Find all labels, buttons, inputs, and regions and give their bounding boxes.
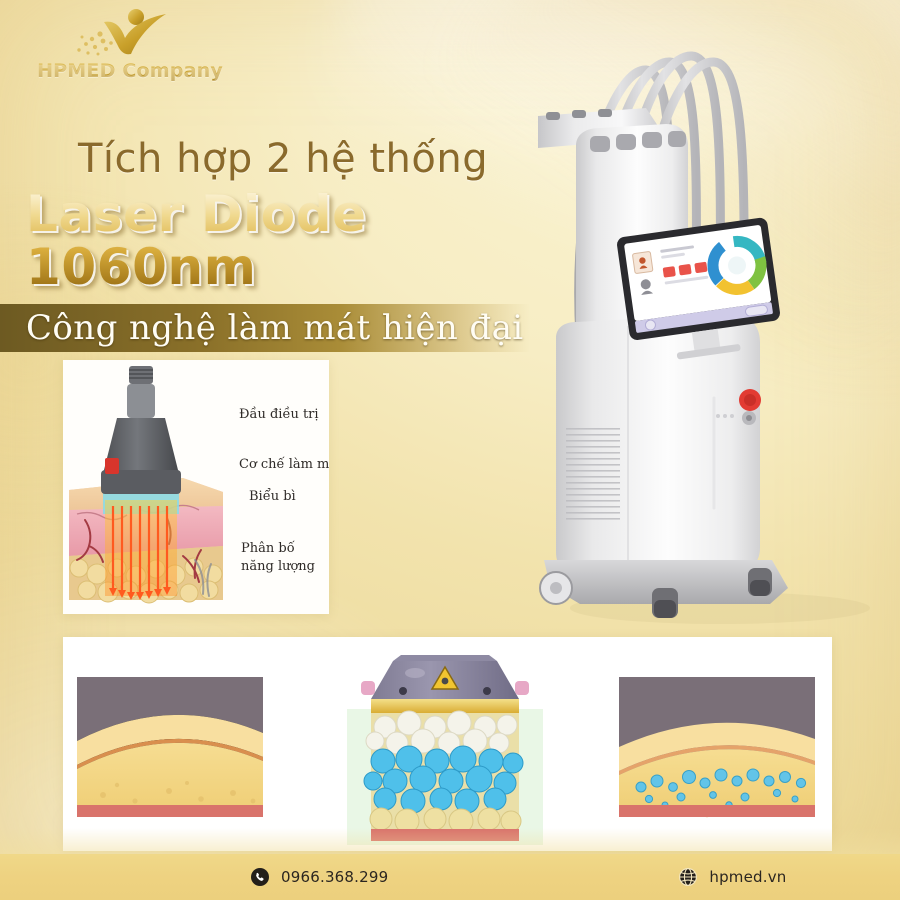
indicator-leds (716, 414, 734, 418)
headline-line-1: Tích hợp 2 hệ thống (78, 138, 560, 180)
treatment-handpiece (101, 366, 181, 494)
applicator-head (361, 655, 529, 699)
treatment-mechanism-card: Đầu điều trị Cơ chế làm mát Biểu bì Phân… (63, 360, 329, 614)
phone-icon (250, 867, 270, 887)
diagram-label-0: Đầu điều trị (239, 406, 319, 422)
diagram-label-3: Phân bốnăng lượng (241, 540, 315, 574)
globe-icon (678, 867, 698, 887)
website-url: hpmed.vn (709, 868, 786, 886)
contact-phone[interactable]: 0966.368.299 (250, 867, 388, 887)
stage-panel-after (619, 677, 815, 817)
stage-panel-before (77, 677, 263, 817)
headline-line-2: Laser Diode 1060nm (26, 188, 560, 294)
footer-fade (0, 828, 900, 854)
treatment-stages-card (63, 637, 832, 851)
poster-canvas: HPMED Company Tích hợp 2 hệ thống Laser … (0, 0, 900, 900)
laser-machine-photo (520, 8, 900, 648)
fat-cell-block (364, 711, 523, 841)
handpiece-button (105, 458, 119, 474)
diagram-label-1: Cơ chế làm mát (239, 456, 329, 472)
diagram-label-2: Biểu bì (249, 488, 296, 504)
brand-logo[interactable]: HPMED Company (22, 6, 232, 92)
stage-panel-during (347, 655, 543, 845)
brand-name: HPMED Company (30, 60, 230, 82)
side-clip-left (361, 681, 375, 695)
headline-band: Công nghệ làm mát hiện đại (0, 304, 530, 352)
contact-website[interactable]: hpmed.vn (678, 867, 786, 887)
person-checkmark-icon (70, 8, 190, 60)
energy-beams (105, 500, 177, 600)
skin-cross-section-diagram: Đầu điều trị Cơ chế làm mát Biểu bì Phân… (63, 360, 329, 614)
phone-number: 0966.368.299 (281, 868, 388, 886)
laser-emitter-bar (371, 699, 519, 713)
headline-line-3: Công nghệ làm mát hiện đại (26, 311, 524, 345)
contact-footer: 0966.368.299 hpmed.vn (0, 854, 900, 900)
side-clip-right (515, 681, 529, 695)
headline-block: Tích hợp 2 hệ thống Laser Diode 1060nm C… (0, 138, 560, 352)
